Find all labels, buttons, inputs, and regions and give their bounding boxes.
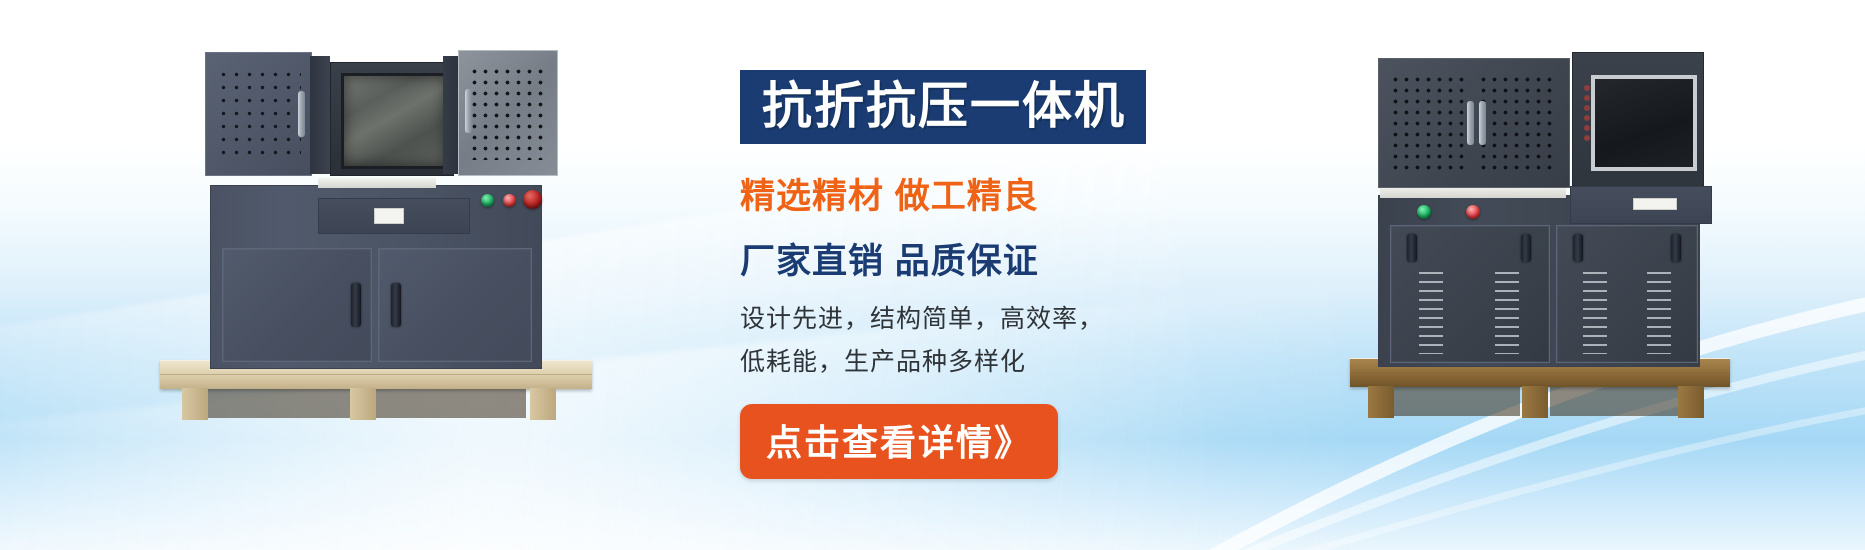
cabinet-handle[interactable]: [351, 283, 361, 327]
perforated-door-right: [458, 50, 558, 176]
red-indicator-light[interactable]: [503, 194, 516, 207]
monitor-pedestal: [1570, 186, 1712, 224]
panel-label: [374, 208, 404, 224]
view-details-label: 点击查看详情》: [766, 422, 1032, 463]
tagline-blue: 厂家直销 品质保证: [740, 233, 1280, 284]
ventilation-louvers: [1647, 272, 1671, 354]
description-line-2: 低耗能，生产品种多样化: [740, 343, 1280, 382]
tagline-orange: 精选精材 做工精良: [740, 168, 1280, 219]
green-indicator-light[interactable]: [481, 194, 494, 207]
display-window-left: [330, 62, 454, 176]
headline-text: 抗折抗压一体机: [762, 81, 1126, 131]
cabinet-handle[interactable]: [1521, 234, 1531, 262]
ventilation-louvers: [1583, 272, 1607, 354]
cabinet-handle[interactable]: [1573, 234, 1583, 262]
control-panel-left: [318, 198, 470, 234]
promo-copy-block: 抗折抗压一体机 精选精材 做工精良 厂家直销 品质保证 设计先进，结构简单，高效…: [740, 70, 1280, 479]
door-handle: [1479, 101, 1486, 145]
ventilation-louvers: [1419, 272, 1443, 354]
door-handle: [465, 89, 472, 133]
lower-cabinet-door-left[interactable]: [222, 248, 372, 362]
door-handle: [1467, 101, 1474, 145]
green-indicator-light[interactable]: [1417, 205, 1431, 219]
cabinet-handle[interactable]: [391, 283, 401, 327]
cabinet-handle[interactable]: [1671, 234, 1681, 262]
view-details-button[interactable]: 点击查看详情》: [740, 404, 1058, 479]
perforated-door-upper-left: [1378, 58, 1570, 188]
vented-cabinet-door-left[interactable]: [1390, 225, 1550, 363]
vented-cabinet-door-right[interactable]: [1556, 225, 1698, 363]
red-indicator-light[interactable]: [1466, 205, 1480, 219]
wooden-pallet-right: [1350, 358, 1730, 422]
perforated-door-left: [205, 52, 312, 176]
monitor-enclosure: [1572, 52, 1704, 188]
door-side-panel-left: [310, 56, 330, 174]
ventilation-louvers: [1495, 272, 1519, 354]
door-handle: [298, 91, 305, 137]
description-line-1: 设计先进，结构简单，高效率，: [740, 300, 1280, 339]
panel-label: [1633, 198, 1677, 210]
monitor-screen: [1591, 75, 1697, 171]
lower-cabinet-door-right[interactable]: [378, 248, 532, 362]
wooden-pallet-left: [160, 360, 592, 422]
emergency-stop-button[interactable]: [523, 190, 542, 209]
deck-plate-left: [318, 178, 436, 188]
promo-banner: 抗折抗压一体机 精选精材 做工精良 厂家直销 品质保证 设计先进，结构简单，高效…: [0, 0, 1865, 550]
headline-banner: 抗折抗压一体机: [740, 70, 1146, 144]
cabinet-handle[interactable]: [1407, 234, 1417, 262]
status-led-strip: [1584, 85, 1590, 145]
